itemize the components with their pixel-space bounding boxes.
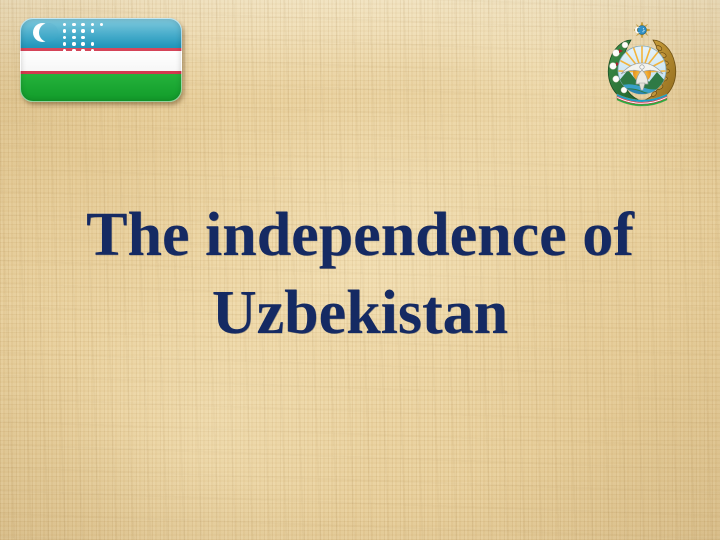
flag-star	[100, 23, 103, 26]
flag-body	[20, 18, 182, 102]
slide-canvas: The independence of Uzbekistan	[0, 0, 720, 540]
flag-star	[81, 42, 84, 45]
flag-green-band	[20, 74, 182, 102]
flag-white-band	[20, 51, 182, 71]
emblem-svg	[597, 20, 687, 110]
page-title: The independence of Uzbekistan	[0, 196, 720, 352]
flag-star	[72, 29, 75, 32]
flag-star	[81, 36, 84, 39]
crescent-moon-icon	[33, 23, 52, 42]
uzbekistan-flag	[20, 18, 182, 102]
flag-star	[72, 42, 75, 45]
flag-star	[72, 49, 75, 52]
flag-star	[63, 29, 66, 32]
flag-star	[91, 29, 94, 32]
flag-star	[81, 49, 84, 52]
title-line-2: Uzbekistan	[0, 274, 720, 352]
flag-star	[63, 42, 66, 45]
flag-star	[63, 23, 66, 26]
flag-star	[72, 23, 75, 26]
uzbekistan-state-emblem	[597, 20, 687, 110]
title-line-1: The independence of	[0, 196, 720, 274]
flag-star	[91, 49, 94, 52]
flag-star	[63, 36, 66, 39]
flag-star	[81, 29, 84, 32]
flag-star	[91, 42, 94, 45]
flag-star	[91, 23, 94, 26]
eight-pointed-star	[634, 22, 650, 38]
flag-stars-group	[63, 23, 111, 43]
flag-star	[81, 23, 84, 26]
flag-star	[72, 36, 75, 39]
